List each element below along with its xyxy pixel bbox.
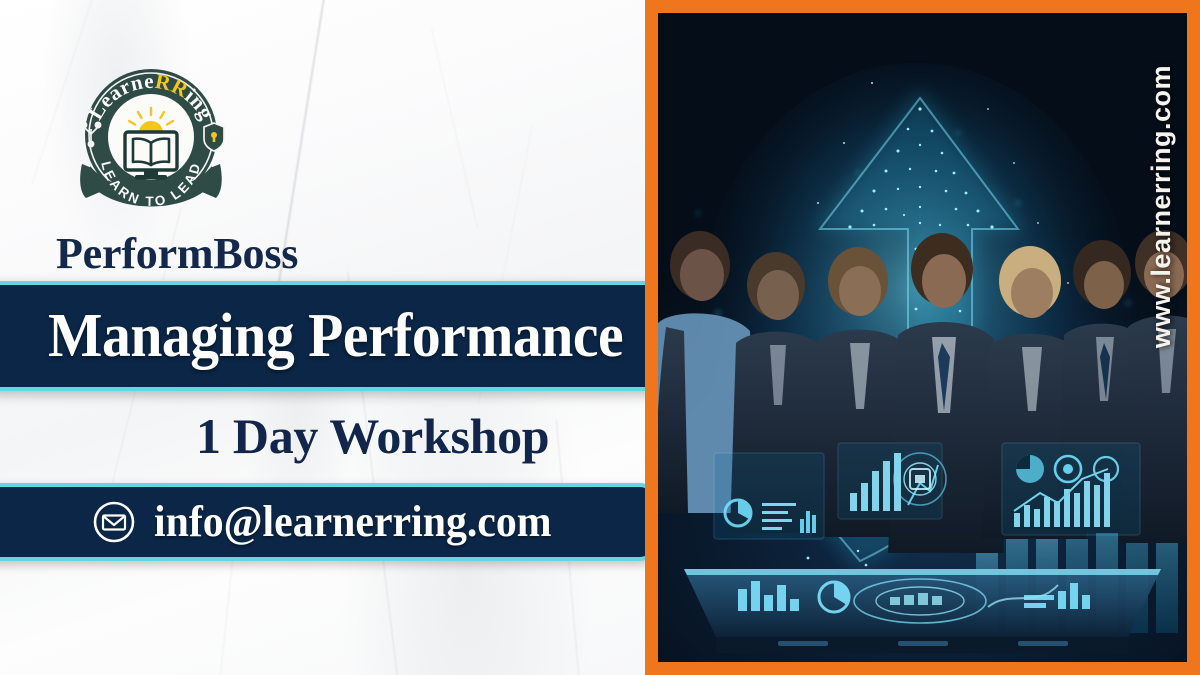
learnerring-logo: LEARN TO LEAD LearneRRing <box>68 52 234 218</box>
contact-email-bar[interactable]: info@learnerring.com <box>0 483 656 561</box>
poster-subtitle: 1 Day Workshop <box>196 409 549 464</box>
envelope-circle-icon <box>92 500 136 544</box>
marble-vein <box>431 29 478 227</box>
holographic-table <box>684 569 1161 653</box>
hologram-panel-right <box>1002 443 1140 535</box>
event-poster: LEARN TO LEAD LearneRRing PerformBoss Ma… <box>0 0 1200 675</box>
website-url: www.learnerring.com <box>1146 65 1177 348</box>
hero-photo: www.learnerring.com <box>658 13 1187 662</box>
poster-title: Managing Performance <box>48 305 623 367</box>
brand-name: PerformBoss <box>56 228 298 279</box>
hologram-panel-left <box>714 453 824 539</box>
email-address: info@learnerring.com <box>154 500 552 544</box>
